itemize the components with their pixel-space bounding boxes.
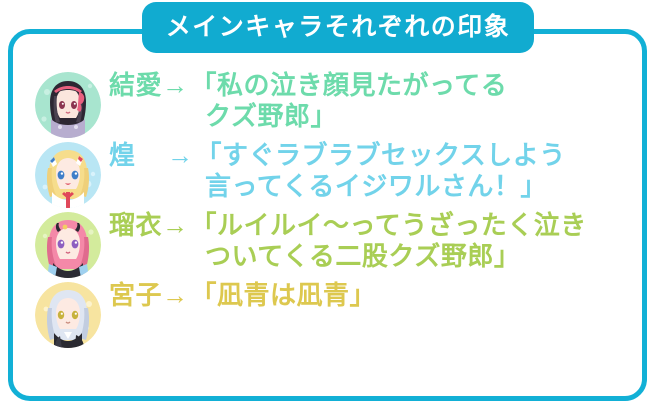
impression-line-2: ついてくる二股クズ野郎」 bbox=[109, 241, 642, 272]
arrow-glyph: → bbox=[167, 140, 196, 171]
main-card: 結愛→「私の泣き顔見たがってる クズ野郎」 bbox=[8, 29, 647, 401]
list-item: 結愛→「私の泣き顔見たがってる クズ野郎」 bbox=[13, 70, 642, 138]
impression-line-2: 言ってくるイジワルさん！」 bbox=[109, 171, 642, 202]
impression-text: 宮子→「凪青は凪青」 bbox=[101, 280, 642, 311]
impression-text: 瑠衣→「ルイルイ〜ってうざったく泣き ついてくる二股クズ野郎」 bbox=[101, 210, 642, 271]
title-badge: メインキャラそれぞれの印象 bbox=[142, 2, 534, 53]
avatar-kou bbox=[35, 142, 101, 208]
impression-line-1: 「ルイルイ〜ってうざったく泣き bbox=[191, 210, 587, 240]
avatar-miyako bbox=[35, 282, 101, 348]
infographic-card-stage: 結愛→「私の泣き顔見たがってる クズ野郎」 bbox=[0, 0, 663, 413]
character-name: 煌 bbox=[109, 140, 167, 171]
character-name: 瑠衣 bbox=[109, 210, 162, 241]
impression-text: 煌→「すぐラブラブセックスしよう 言ってくるイジワルさん！」 bbox=[101, 140, 642, 201]
impression-line-1: 「凪青は凪青」 bbox=[191, 280, 377, 310]
arrow-glyph: → bbox=[162, 280, 191, 311]
list-item: 瑠衣→「ルイルイ〜ってうざったく泣き ついてくる二股クズ野郎」 bbox=[13, 210, 642, 278]
character-impression-list: 結愛→「私の泣き顔見たがってる クズ野郎」 bbox=[13, 68, 642, 350]
page-title: メインキャラそれぞれの印象 bbox=[166, 15, 511, 40]
impression-text: 結愛→「私の泣き顔見たがってる クズ野郎」 bbox=[101, 70, 642, 131]
avatar-yua bbox=[35, 72, 101, 138]
arrow-glyph: → bbox=[162, 210, 191, 241]
character-name: 宮子 bbox=[109, 280, 162, 311]
list-item: 宮子→「凪青は凪青」 bbox=[13, 280, 642, 348]
impression-line-1: 「私の泣き顔見たがってる bbox=[191, 70, 508, 100]
impression-line-1: 「すぐラブラブセックスしよう bbox=[196, 140, 566, 170]
arrow-glyph: → bbox=[162, 70, 191, 101]
character-name: 結愛 bbox=[109, 70, 162, 101]
avatar-rui bbox=[35, 212, 101, 278]
impression-line-2: クズ野郎」 bbox=[109, 101, 642, 132]
list-item: 煌→「すぐラブラブセックスしよう 言ってくるイジワルさん！」 bbox=[13, 140, 642, 208]
